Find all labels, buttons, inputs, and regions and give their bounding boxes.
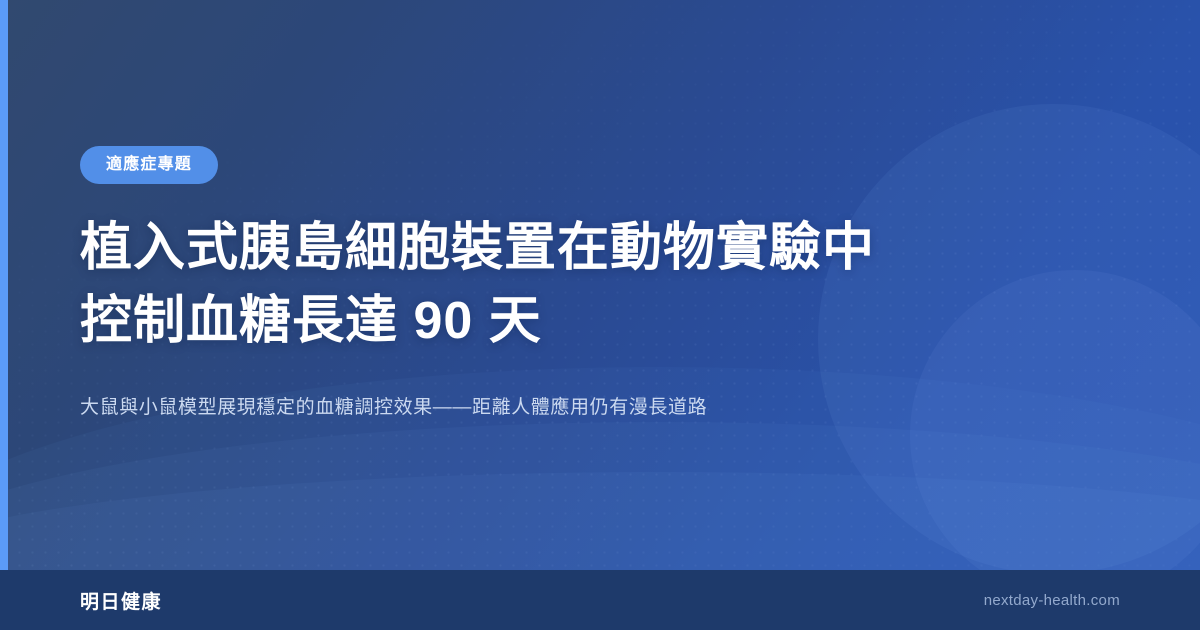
card-subtitle: 大鼠與小鼠模型展現穩定的血糖調控效果——距離人體應用仍有漫長道路 bbox=[80, 393, 920, 423]
category-badge: 適應症專題 bbox=[80, 146, 218, 183]
card-footer: 明日健康 nextday-health.com bbox=[0, 570, 1200, 630]
social-share-card: 適應症專題 植入式胰島細胞裝置在動物實驗中控制血糖長達 90 天 大鼠與小鼠模型… bbox=[0, 0, 1200, 630]
left-accent-bar bbox=[0, 0, 8, 630]
card-content: 適應症專題 植入式胰島細胞裝置在動物實驗中控制血糖長達 90 天 大鼠與小鼠模型… bbox=[80, 0, 980, 570]
brand-name: 明日健康 bbox=[80, 587, 162, 614]
card-title: 植入式胰島細胞裝置在動物實驗中控制血糖長達 90 天 bbox=[80, 212, 910, 360]
site-domain: nextday-health.com bbox=[984, 592, 1120, 609]
